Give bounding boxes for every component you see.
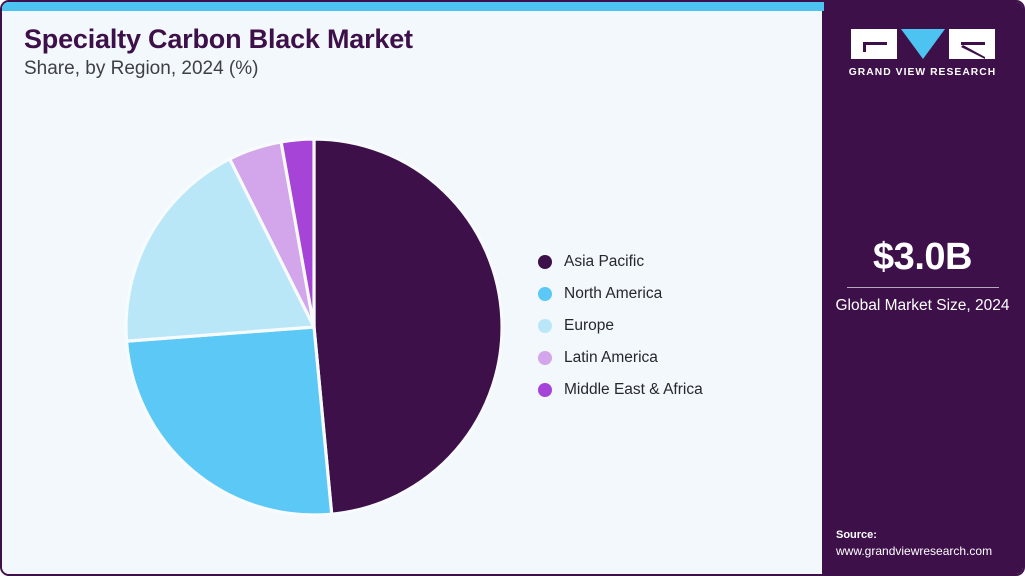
pie-chart: [114, 127, 514, 527]
legend-item[interactable]: Asia Pacific: [538, 254, 703, 270]
legend-item-label: Latin America: [564, 350, 658, 366]
source-label: Source:: [836, 528, 1015, 543]
legend-item[interactable]: Middle East & Africa: [538, 382, 703, 398]
legend-swatch-icon: [538, 351, 552, 365]
source-note: Source: www.grandviewresearch.com: [836, 528, 1015, 560]
brand-wordmark: GRAND VIEW RESEARCH: [849, 67, 997, 78]
pie-slice: [127, 327, 332, 515]
pie-slice: [314, 139, 502, 514]
brand-side-panel: GRAND VIEW RESEARCH $3.0B Global Market …: [822, 2, 1023, 574]
pie-chart-svg: [114, 127, 514, 527]
legend-item-label: North America: [564, 286, 662, 302]
legend-swatch-icon: [538, 255, 552, 269]
legend-item[interactable]: North America: [538, 286, 703, 302]
source-url: www.grandviewresearch.com: [836, 543, 1015, 560]
legend-item-label: Europe: [564, 318, 614, 334]
gvr-logo-icon: [851, 28, 995, 60]
legend-swatch-icon: [538, 287, 552, 301]
page-subtitle: Share, by Region, 2024 (%): [24, 58, 413, 80]
stat-value: $3.0B: [834, 238, 1011, 278]
stat-divider: [847, 287, 999, 288]
chart-legend: Asia PacificNorth AmericaEuropeLatin Ame…: [538, 254, 703, 398]
legend-swatch-icon: [538, 319, 552, 333]
legend-item-label: Asia Pacific: [564, 254, 644, 270]
stat-highlight: $3.0B Global Market Size, 2024: [834, 238, 1011, 316]
brand-logo: GRAND VIEW RESEARCH: [822, 28, 1023, 78]
title-group: Specialty Carbon Black Market Share, by …: [24, 24, 413, 80]
legend-item[interactable]: Europe: [538, 318, 703, 334]
stat-caption: Global Market Size, 2024: [834, 296, 1011, 316]
legend-item[interactable]: Latin America: [538, 350, 703, 366]
legend-item-label: Middle East & Africa: [564, 382, 703, 398]
legend-swatch-icon: [538, 383, 552, 397]
top-accent-bar: [2, 2, 824, 11]
chart-pane: Specialty Carbon Black Market Share, by …: [2, 2, 824, 574]
infographic-card: Specialty Carbon Black Market Share, by …: [0, 0, 1025, 576]
page-title: Specialty Carbon Black Market: [24, 24, 413, 54]
